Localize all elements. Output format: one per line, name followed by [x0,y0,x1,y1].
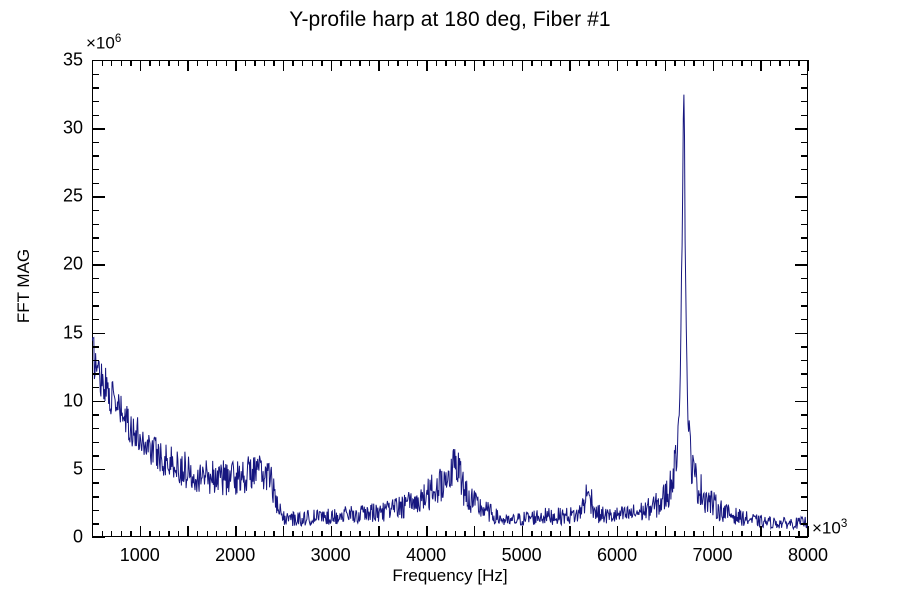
x-minor-tick [655,531,656,537]
x-minor-tick-top [197,60,198,66]
x-major-tick [522,526,523,537]
x-minor-tick [608,531,609,537]
x-minor-tick [264,531,265,537]
x-minor-tick [588,531,589,537]
y-major-tick-right [795,469,808,470]
x-minor-tick-top [111,60,112,66]
x-minor-tick-top [684,60,685,66]
x-major-tick-top [713,60,714,71]
x-major-tick-top [665,60,666,71]
x-minor-tick-top [273,60,274,66]
x-minor-tick [369,531,370,537]
y-minor-tick-right [801,155,808,156]
x-minor-tick-top [646,60,647,66]
x-minor-tick [121,531,122,537]
x-minor-tick [779,531,780,537]
x-minor-tick-top [579,60,580,66]
x-major-tick [474,526,475,537]
y-minor-tick [92,414,99,415]
x-minor-tick [693,531,694,537]
x-minor-tick-top [302,60,303,66]
x-minor-tick [541,531,542,537]
x-minor-tick-top [312,60,313,66]
y-tick-label: 0 [0,527,83,548]
x-minor-tick-top [464,60,465,66]
x-minor-tick [493,531,494,537]
y-minor-tick-right [801,442,808,443]
x-minor-tick [216,531,217,537]
x-minor-tick-top [149,60,150,66]
x-major-tick [378,526,379,537]
x-minor-tick [397,531,398,537]
x-major-tick [569,526,570,537]
y-minor-tick-right [801,251,808,252]
y-minor-tick [92,523,99,524]
y-minor-tick-right [801,278,808,279]
x-minor-tick-top [550,60,551,66]
y-tick-label: 20 [0,254,83,275]
y-minor-tick-right [801,115,808,116]
x-minor-tick-top [264,60,265,66]
x-minor-tick-top [503,60,504,66]
x-major-tick-top [378,60,379,71]
y-minor-tick [92,442,99,443]
x-minor-tick [417,531,418,537]
x-minor-tick [359,531,360,537]
y-tick-label: 30 [0,118,83,139]
y-major-tick-right [795,537,808,538]
x-minor-tick [579,531,580,537]
y-minor-tick [92,292,99,293]
y-minor-tick-right [801,319,808,320]
x-minor-tick [302,531,303,537]
x-major-tick-top [283,60,284,71]
y-major-tick-right [795,196,808,197]
x-minor-tick-top [770,60,771,66]
x-minor-tick-top [245,60,246,66]
x-minor-tick-top [216,60,217,66]
x-minor-tick [732,531,733,537]
x-tick-label: 6000 [597,545,637,566]
x-minor-tick-top [674,60,675,66]
x-minor-tick [321,531,322,537]
x-minor-tick-top [732,60,733,66]
x-minor-tick [684,531,685,537]
y-major-tick-right [795,60,808,61]
y-major-tick [92,333,105,334]
x-minor-tick [350,531,351,537]
x-minor-tick [407,531,408,537]
x-minor-tick-top [493,60,494,66]
y-exponent-mantissa: ×10 [86,34,115,53]
x-minor-tick-top [751,60,752,66]
y-minor-tick [92,74,99,75]
y-major-tick-right [795,333,808,334]
x-minor-tick [130,531,131,537]
x-major-tick-top [187,60,188,71]
x-tick-label: 7000 [693,545,733,566]
y-tick-label: 5 [0,458,83,479]
x-minor-tick-top [121,60,122,66]
y-minor-tick [92,183,99,184]
x-minor-tick-top [436,60,437,66]
y-minor-tick-right [801,74,808,75]
x-major-tick [331,526,332,537]
y-minor-tick-right [801,237,808,238]
plot-canvas: Y-profile harp at 180 deg, Fiber #1 ×106… [0,0,900,600]
x-minor-tick-top [588,60,589,66]
x-major-tick-top [474,60,475,71]
y-minor-tick-right [801,142,808,143]
x-minor-tick-top [178,60,179,66]
x-tick-label: 3000 [311,545,351,566]
y-minor-tick [92,155,99,156]
x-minor-tick [340,531,341,537]
x-major-tick [760,526,761,537]
x-major-tick-top [808,60,809,71]
x-major-tick [140,526,141,537]
page-title: Y-profile harp at 180 deg, Fiber #1 [0,8,900,32]
x-minor-tick-top [693,60,694,66]
x-minor-tick-top [397,60,398,66]
x-major-tick [92,526,93,537]
x-major-tick-top [617,60,618,71]
y-minor-tick-right [801,183,808,184]
x-major-tick [426,526,427,537]
x-major-tick [713,526,714,537]
y-minor-tick-right [801,496,808,497]
y-minor-tick [92,224,99,225]
x-minor-tick [388,531,389,537]
y-major-tick-right [795,128,808,129]
x-tick-label: 1000 [120,545,160,566]
y-major-tick [92,469,105,470]
x-minor-tick-top [455,60,456,66]
x-exponent-mantissa: ×10 [812,519,841,538]
y-minor-tick [92,169,99,170]
x-minor-tick [751,531,752,537]
x-major-tick [283,526,284,537]
x-major-tick-top [426,60,427,71]
x-major-tick-top [760,60,761,71]
y-minor-tick-right [801,169,808,170]
y-minor-tick [92,278,99,279]
x-minor-tick [531,531,532,537]
x-minor-tick [149,531,150,537]
y-minor-tick [92,251,99,252]
y-minor-tick [92,496,99,497]
y-minor-tick [92,115,99,116]
x-minor-tick [168,531,169,537]
y-minor-tick [92,346,99,347]
x-minor-tick [646,531,647,537]
y-minor-tick-right [801,210,808,211]
x-minor-tick [550,531,551,537]
x-major-tick-top [522,60,523,71]
y-tick-label: 10 [0,390,83,411]
x-minor-tick-top [369,60,370,66]
x-minor-tick-top [541,60,542,66]
x-major-tick-top [331,60,332,71]
x-minor-tick [674,531,675,537]
y-minor-tick [92,210,99,211]
y-minor-tick-right [801,360,808,361]
y-minor-tick-right [801,428,808,429]
x-minor-tick-top [226,60,227,66]
x-tick-label: 5000 [502,545,542,566]
y-minor-tick-right [801,482,808,483]
y-tick-label: 25 [0,186,83,207]
y-minor-tick [92,455,99,456]
x-minor-tick [741,531,742,537]
y-minor-tick-right [801,373,808,374]
x-minor-tick [197,531,198,537]
x-minor-tick [770,531,771,537]
x-minor-tick-top [560,60,561,66]
x-minor-tick-top [655,60,656,66]
x-axis-title: Frequency [Hz] [0,566,900,586]
y-major-tick [92,264,105,265]
x-major-tick-top [140,60,141,71]
x-minor-tick-top [598,60,599,66]
x-minor-tick-top [417,60,418,66]
y-major-tick [92,401,105,402]
x-minor-tick [598,531,599,537]
x-minor-tick [159,531,160,537]
x-major-tick-top [569,60,570,71]
y-minor-tick [92,319,99,320]
x-minor-tick-top [789,60,790,66]
x-minor-tick [503,531,504,537]
y-tick-label: 15 [0,322,83,343]
x-exponent-power: 3 [841,518,847,530]
x-minor-tick-top [321,60,322,66]
y-minor-tick [92,428,99,429]
x-minor-tick-top [207,60,208,66]
x-major-tick [235,526,236,537]
y-minor-tick-right [801,101,808,102]
y-axis-title: FFT MAG [14,206,34,366]
x-minor-tick-top [340,60,341,66]
y-minor-tick [92,482,99,483]
x-minor-tick [312,531,313,537]
x-minor-tick-top [483,60,484,66]
x-minor-tick [636,531,637,537]
y-minor-tick-right [801,455,808,456]
x-minor-tick [483,531,484,537]
x-minor-tick [436,531,437,537]
y-exponent-power: 6 [115,33,121,45]
x-minor-tick [292,531,293,537]
x-minor-tick [722,531,723,537]
x-minor-tick-top [168,60,169,66]
x-minor-tick [273,531,274,537]
y-minor-tick-right [801,414,808,415]
x-minor-tick [464,531,465,537]
y-minor-tick-right [801,224,808,225]
x-tick-label: 2000 [215,545,255,566]
y-minor-tick-right [801,510,808,511]
x-minor-tick [254,531,255,537]
x-minor-tick-top [130,60,131,66]
x-axis-exponent: ×103 [812,518,847,539]
y-minor-tick [92,305,99,306]
x-minor-tick [111,531,112,537]
y-minor-tick [92,101,99,102]
x-minor-tick [627,531,628,537]
x-minor-tick-top [445,60,446,66]
x-major-tick-top [235,60,236,71]
x-minor-tick-top [388,60,389,66]
x-minor-tick-top [531,60,532,66]
y-minor-tick-right [801,387,808,388]
y-minor-tick-right [801,305,808,306]
x-minor-tick [560,531,561,537]
x-minor-tick-top [703,60,704,66]
x-minor-tick-top [254,60,255,66]
x-minor-tick-top [627,60,628,66]
y-major-tick-right [795,264,808,265]
y-minor-tick [92,87,99,88]
x-minor-tick [789,531,790,537]
x-minor-tick-top [407,60,408,66]
x-minor-tick [226,531,227,537]
x-minor-tick [245,531,246,537]
y-major-tick [92,537,105,538]
x-major-tick [617,526,618,537]
x-minor-tick-top [359,60,360,66]
x-minor-tick [703,531,704,537]
y-minor-tick-right [801,292,808,293]
x-major-tick [187,526,188,537]
x-minor-tick [178,531,179,537]
x-minor-tick [455,531,456,537]
y-minor-tick [92,237,99,238]
x-minor-tick [207,531,208,537]
x-minor-tick-top [636,60,637,66]
plot-frame [92,60,808,537]
y-minor-tick [92,373,99,374]
y-minor-tick-right [801,523,808,524]
x-minor-tick-top [741,60,742,66]
x-minor-tick-top [350,60,351,66]
y-minor-tick [92,360,99,361]
y-tick-label: 35 [0,50,83,71]
y-minor-tick [92,142,99,143]
x-major-tick [808,526,809,537]
x-tick-label: 8000 [788,545,828,566]
y-major-tick [92,60,105,61]
x-minor-tick-top [608,60,609,66]
x-minor-tick-top [512,60,513,66]
x-major-tick [665,526,666,537]
x-tick-label: 4000 [406,545,446,566]
y-minor-tick-right [801,87,808,88]
x-minor-tick [445,531,446,537]
y-minor-tick [92,510,99,511]
y-major-tick [92,128,105,129]
y-minor-tick-right [801,346,808,347]
x-minor-tick-top [159,60,160,66]
x-minor-tick-top [779,60,780,66]
x-minor-tick-top [722,60,723,66]
x-minor-tick [512,531,513,537]
y-major-tick [92,196,105,197]
x-major-tick-top [92,60,93,71]
y-major-tick-right [795,401,808,402]
y-minor-tick [92,387,99,388]
x-minor-tick-top [292,60,293,66]
y-axis-exponent: ×106 [86,33,121,54]
